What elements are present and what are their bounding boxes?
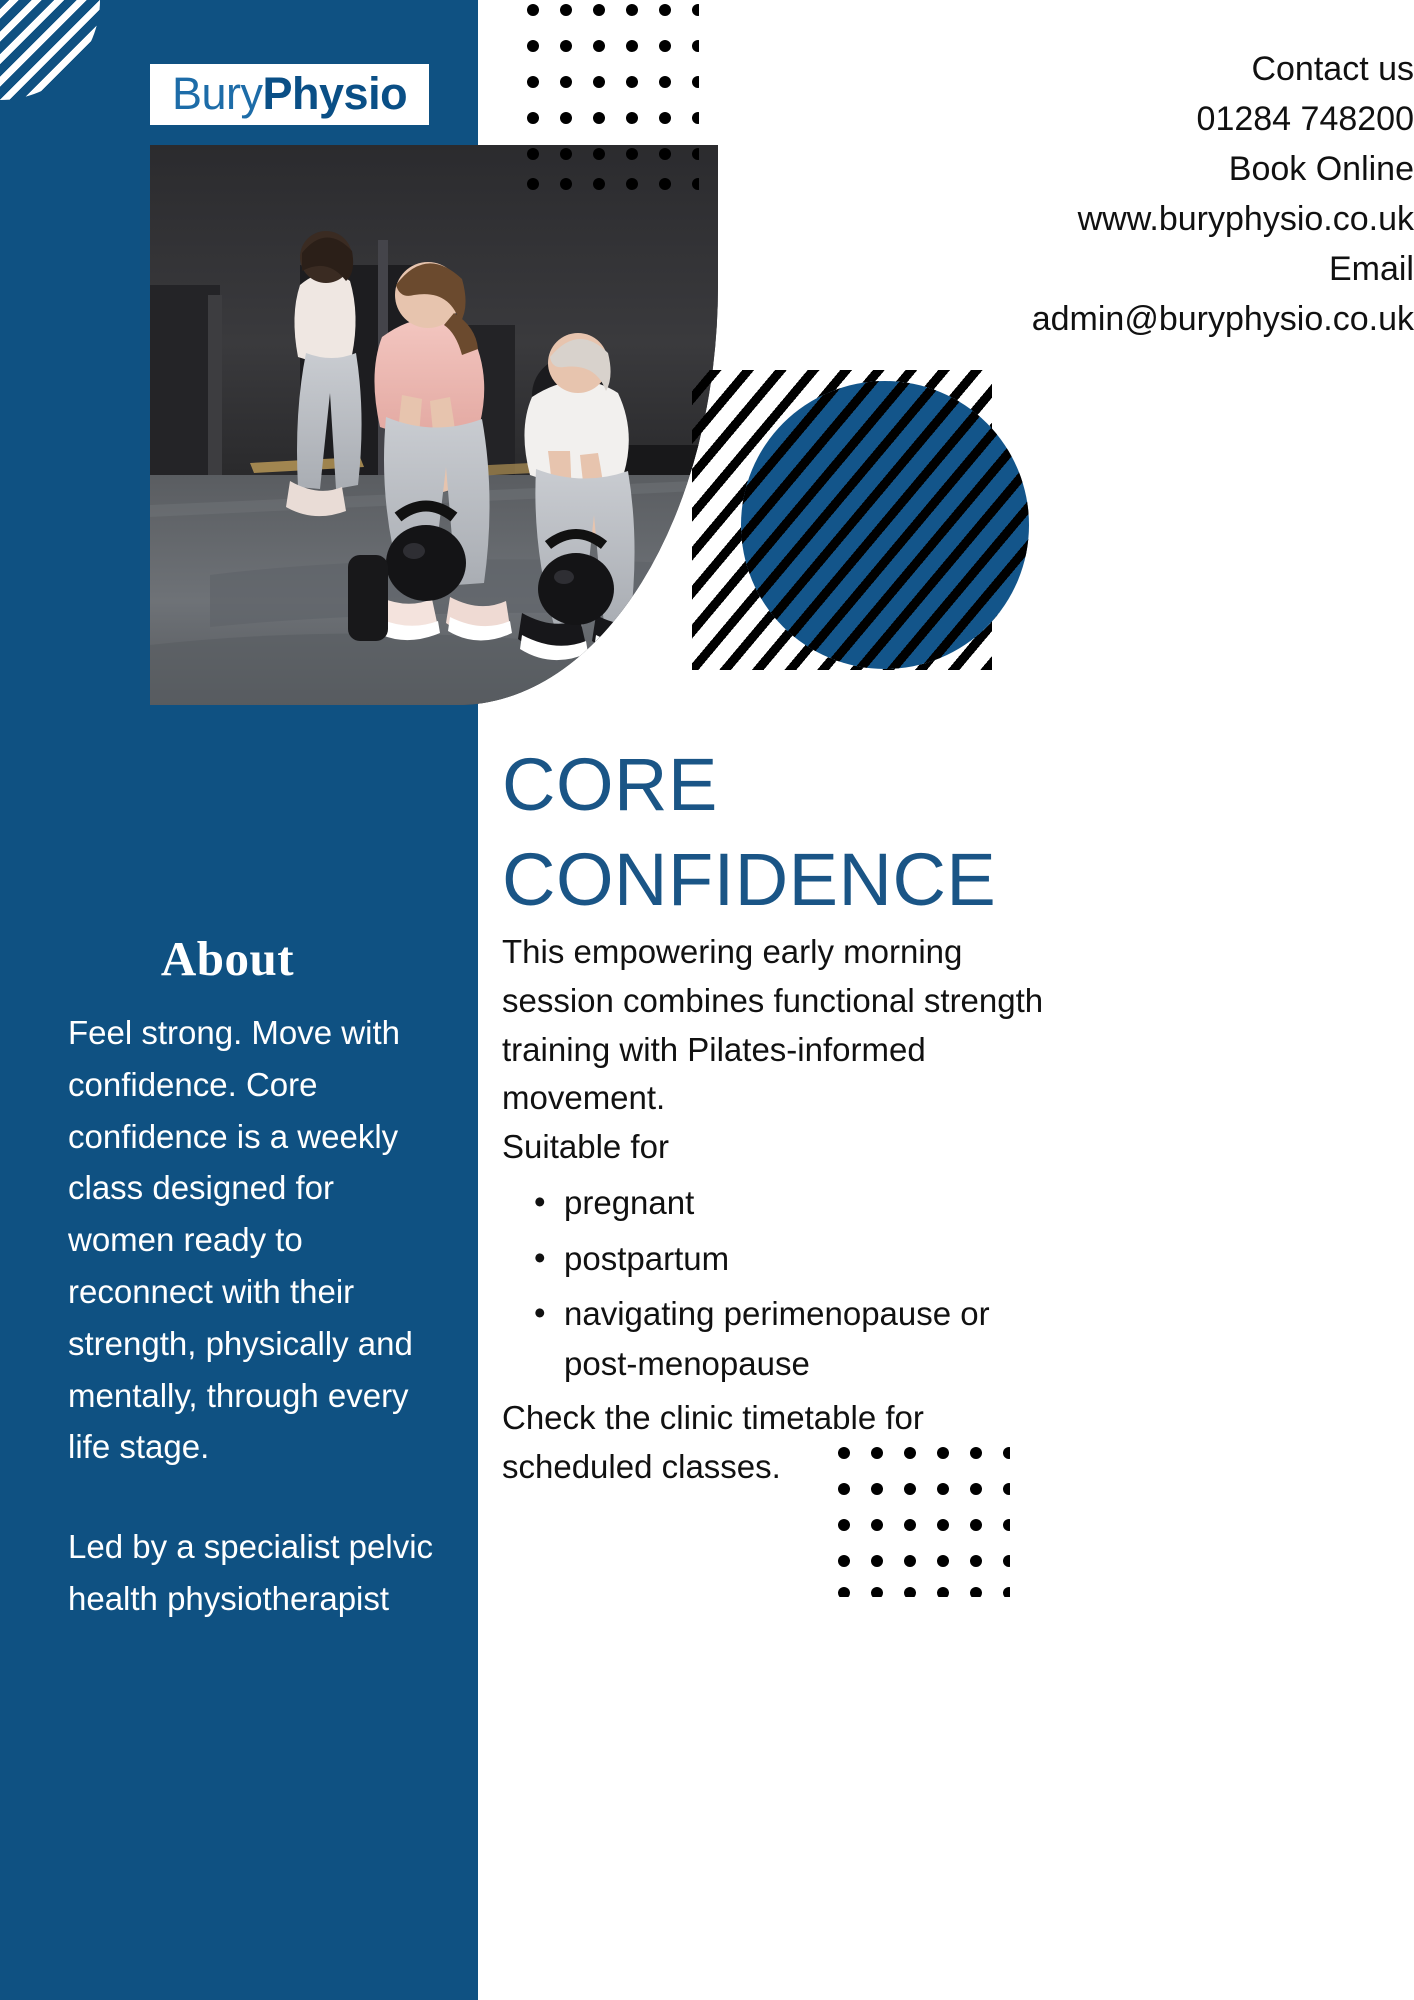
- page-title-line-1: CORE: [502, 738, 1102, 833]
- about-paragraph-2: Led by a specialist pelvic health physio…: [68, 1521, 436, 1625]
- dot-grid-decoration-top-icon: [527, 4, 699, 190]
- logo-text: BuryPhysio: [172, 71, 407, 116]
- contact-phone[interactable]: 01284 748200: [714, 95, 1414, 145]
- poster-canvas: BuryPhysio: [0, 0, 1414, 2000]
- contact-book-online-label: Book Online: [714, 145, 1414, 195]
- hero-photo-illustration: [150, 145, 718, 705]
- main-intro-paragraph: This empowering early morning session co…: [502, 928, 1072, 1123]
- page-title: CORE CONFIDENCE: [502, 738, 1102, 927]
- suitable-for-list: pregnant postpartum navigating perimenop…: [502, 1178, 1072, 1388]
- logo-word-bury: Bury: [172, 68, 263, 119]
- dot-grid-decoration-bottom-icon: [838, 1447, 1010, 1592]
- list-item: postpartum: [564, 1234, 1072, 1284]
- brand-logo: BuryPhysio: [150, 64, 429, 125]
- hero-photo: [150, 145, 718, 705]
- list-item: pregnant: [564, 1178, 1072, 1228]
- main-description: This empowering early morning session co…: [502, 928, 1072, 1492]
- page-title-line-2: CONFIDENCE: [502, 833, 1102, 928]
- logo-word-physio: Physio: [263, 68, 408, 119]
- contact-email[interactable]: admin@buryphysio.co.uk: [714, 295, 1414, 345]
- striped-circle-decoration-icon: [692, 370, 992, 670]
- circle-inner-stripes: [741, 381, 1029, 669]
- list-item: navigating perimenopause or post-menopau…: [564, 1289, 1072, 1388]
- contact-line-heading: Contact us: [714, 45, 1414, 95]
- about-paragraph-spacer: [68, 1473, 436, 1521]
- suitable-for-label: Suitable for: [502, 1123, 1072, 1172]
- circle-solid-fill: [741, 381, 1029, 669]
- contact-email-label: Email: [714, 245, 1414, 295]
- about-heading: About: [0, 930, 455, 987]
- contact-website[interactable]: www.buryphysio.co.uk: [714, 195, 1414, 245]
- about-body: Feel strong. Move with confidence. Core …: [68, 1007, 436, 1625]
- about-paragraph-1: Feel strong. Move with confidence. Core …: [68, 1007, 436, 1473]
